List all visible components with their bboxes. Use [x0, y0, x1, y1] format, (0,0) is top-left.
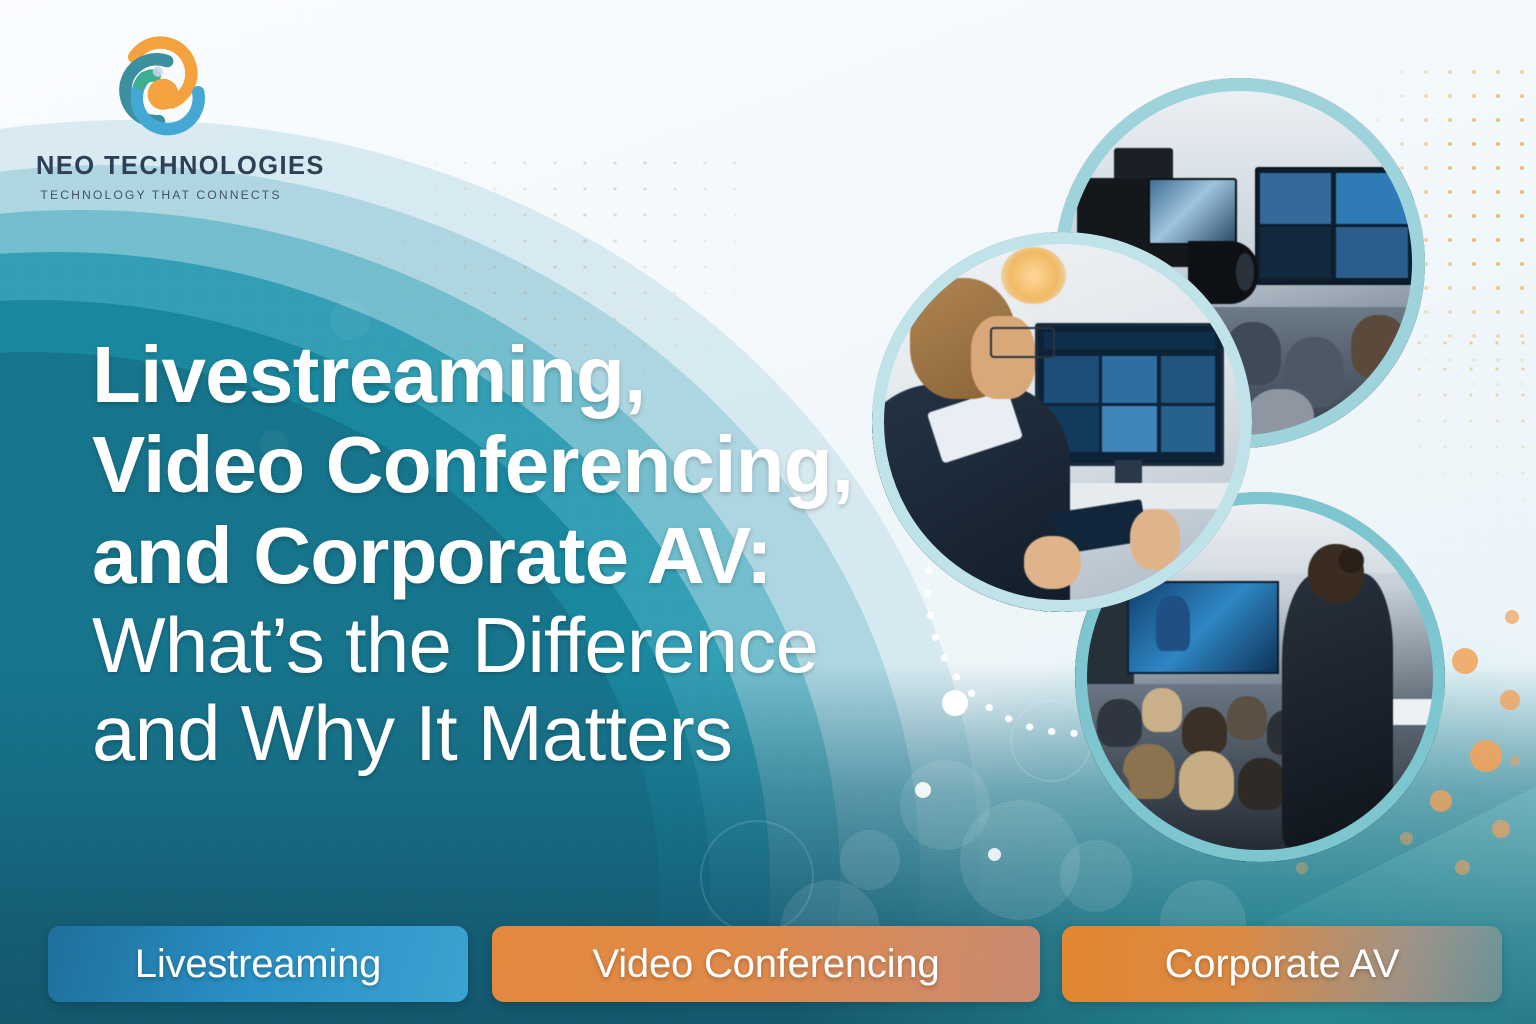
interlocking-rings-logo-icon [99, 26, 223, 146]
brand-logo[interactable]: NEO TECHNOLOGIES TECHNOLOGY THAT CONNECT… [36, 26, 286, 202]
category-pill-row: Livestreaming Video Conferencing Corpora… [0, 926, 1536, 1002]
pill-livestreaming-label: Livestreaming [135, 942, 381, 987]
pill-video-conferencing-label: Video Conferencing [592, 942, 939, 987]
headline-line-5: and Why It Matters [92, 689, 882, 777]
headline-line-3: and Corporate AV: [92, 511, 882, 601]
marketing-banner: NEO TECHNOLOGIES TECHNOLOGY THAT CONNECT… [0, 0, 1536, 1024]
pill-corporate-av[interactable]: Corporate AV [1062, 926, 1502, 1002]
headline-line-2: Video Conferencing, [92, 420, 882, 510]
headline: Livestreaming, Video Conferencing, and C… [92, 330, 882, 777]
brand-tagline: TECHNOLOGY THAT CONNECTS [36, 188, 286, 202]
headline-line-4: What’s the Difference [92, 601, 882, 689]
video-conference-photo [872, 232, 1252, 612]
brand-name: NEO TECHNOLOGIES [36, 152, 286, 181]
pill-corporate-av-label: Corporate AV [1165, 942, 1400, 987]
headline-line-1: Livestreaming, [92, 330, 882, 420]
pill-livestreaming[interactable]: Livestreaming [48, 926, 468, 1002]
pill-video-conferencing[interactable]: Video Conferencing [492, 926, 1040, 1002]
